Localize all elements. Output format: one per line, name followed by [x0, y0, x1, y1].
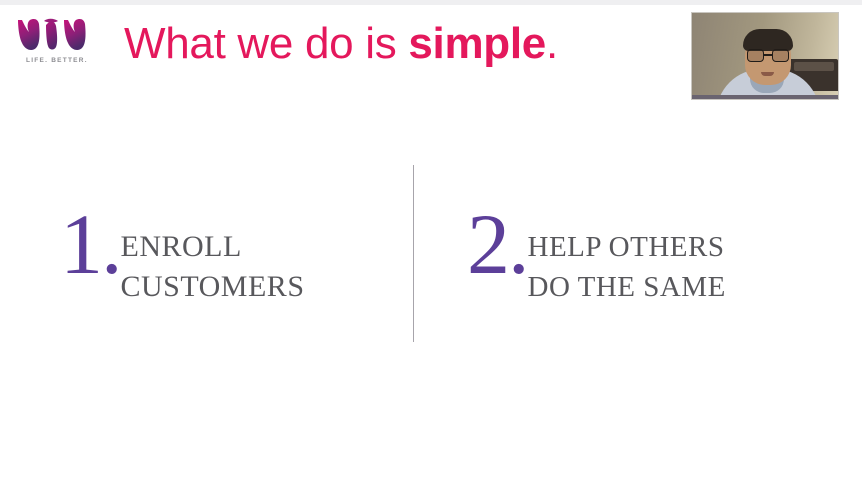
numbered-point-2: 2. HELP OTHERS DO THE SAME — [467, 205, 726, 307]
presenter-mouth — [761, 72, 774, 76]
point-2-text: HELP OTHERS DO THE SAME — [528, 205, 726, 307]
slide-title-tail: . — [546, 19, 558, 68]
slide-title: What we do is simple. — [124, 16, 558, 72]
glasses-lens-right — [772, 49, 789, 62]
logo-tagline: LIFE. BETTER. — [26, 57, 88, 64]
presenter-video-thumbnail[interactable] — [691, 12, 839, 100]
point-1-number: 1. — [60, 201, 121, 287]
glasses-lens-left — [747, 49, 764, 62]
presenter-glasses-icon — [747, 49, 789, 62]
column-divider — [413, 165, 414, 342]
video-furniture-top — [794, 62, 834, 71]
slide-title-plain: What we do is — [124, 19, 408, 68]
glasses-bridge — [764, 54, 772, 56]
slide-title-accent: simple — [408, 19, 546, 68]
point-2-line-1: HELP OTHERS — [528, 227, 726, 267]
point-1-line-2: CUSTOMERS — [121, 267, 305, 307]
point-2-line-2: DO THE SAME — [528, 267, 726, 307]
presentation-slide: LIFE. BETTER. What we do is simple. 1. E… — [0, 0, 862, 485]
top-edge-band — [0, 0, 862, 5]
point-1-line-1: ENROLL — [121, 227, 305, 267]
viv-wordmark-icon — [16, 18, 94, 54]
point-2-number: 2. — [467, 201, 528, 287]
point-1-text: ENROLL CUSTOMERS — [121, 205, 305, 307]
viv-logo: LIFE. BETTER. — [16, 18, 108, 76]
video-bottom-bar — [692, 95, 838, 99]
numbered-point-1: 1. ENROLL CUSTOMERS — [60, 205, 305, 307]
presenter-hair — [743, 29, 793, 51]
